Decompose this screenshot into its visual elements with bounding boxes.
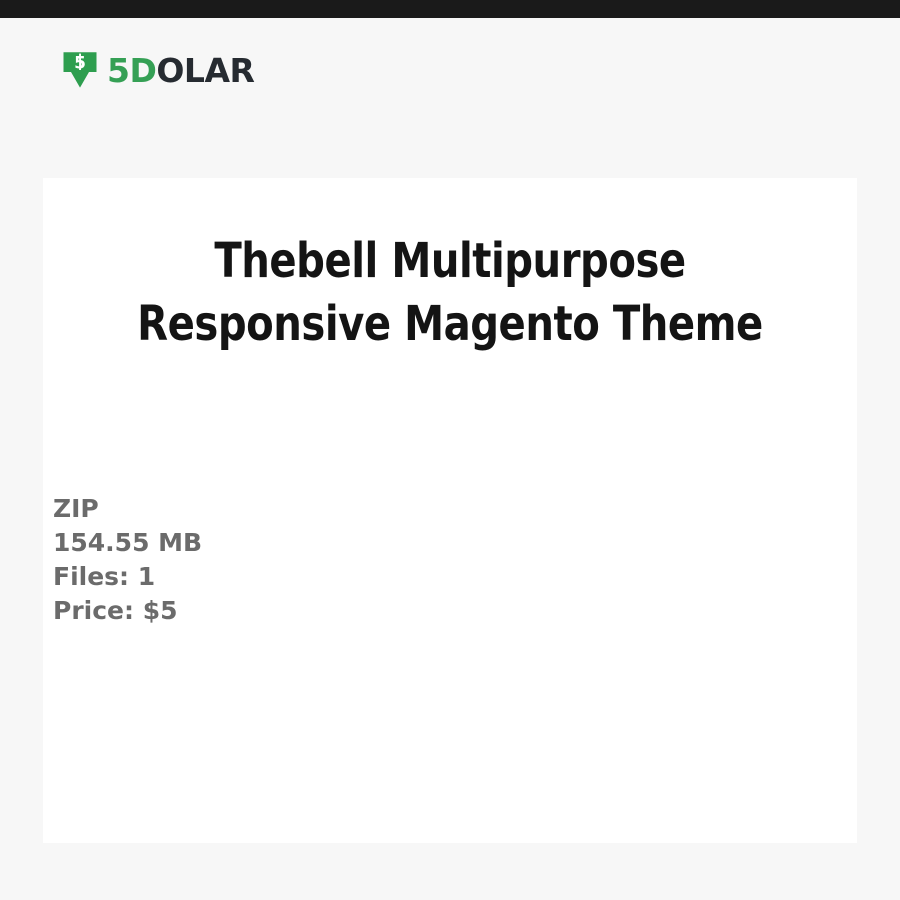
top-bar (0, 0, 900, 18)
meta-file-count: Files: 1 (53, 560, 202, 594)
site-header: 5 5DOLAR (0, 18, 900, 178)
logo-wordmark-dark: OLAR (156, 54, 254, 87)
logo-wordmark-green: 5D (107, 54, 156, 87)
logo-wordmark: 5DOLAR (107, 54, 254, 87)
product-title: Thebell Multipurpose Responsive Magento … (71, 178, 828, 357)
meta-file-size: 154.55 MB (53, 526, 202, 560)
meta-file-type: ZIP (53, 492, 202, 526)
download-shield-dollar-icon: 5 (62, 50, 98, 90)
meta-price: Price: $5 (53, 594, 202, 628)
product-card: Thebell Multipurpose Responsive Magento … (43, 178, 857, 843)
product-meta: ZIP 154.55 MB Files: 1 Price: $5 (53, 492, 202, 628)
site-logo[interactable]: 5 5DOLAR (62, 50, 254, 90)
